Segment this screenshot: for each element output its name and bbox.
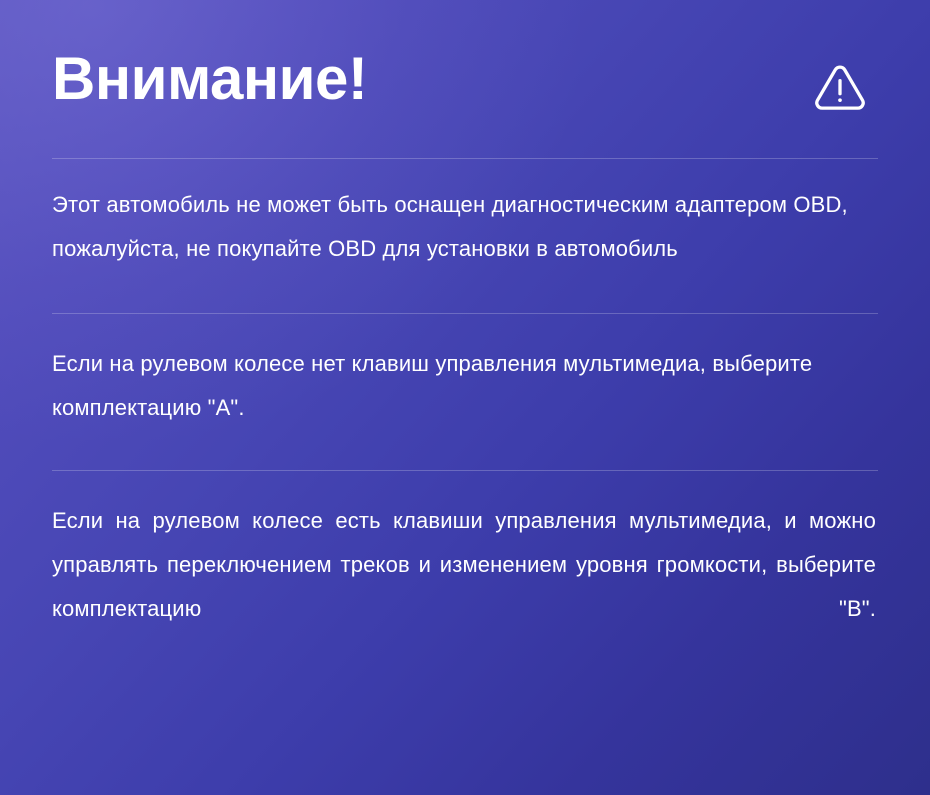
notice-header: Внимание!	[52, 0, 878, 118]
divider-3	[52, 470, 878, 471]
paragraph-obd-warning: Этот автомобиль не может быть оснащен ди…	[52, 183, 878, 271]
paragraph-variant-a: Если на рулевом колесе нет клавиш управл…	[52, 342, 878, 430]
page-title: Внимание!	[52, 48, 367, 109]
paragraph-variant-b: Если на рулевом колесе есть клавиши упра…	[52, 499, 878, 675]
divider-1	[52, 158, 878, 159]
notice-content: Внимание! Этот автомобиль не может быть …	[0, 0, 930, 675]
warning-notice-card: Внимание! Этот автомобиль не может быть …	[0, 0, 930, 795]
warning-triangle-icon	[809, 56, 871, 118]
divider-2	[52, 313, 878, 314]
